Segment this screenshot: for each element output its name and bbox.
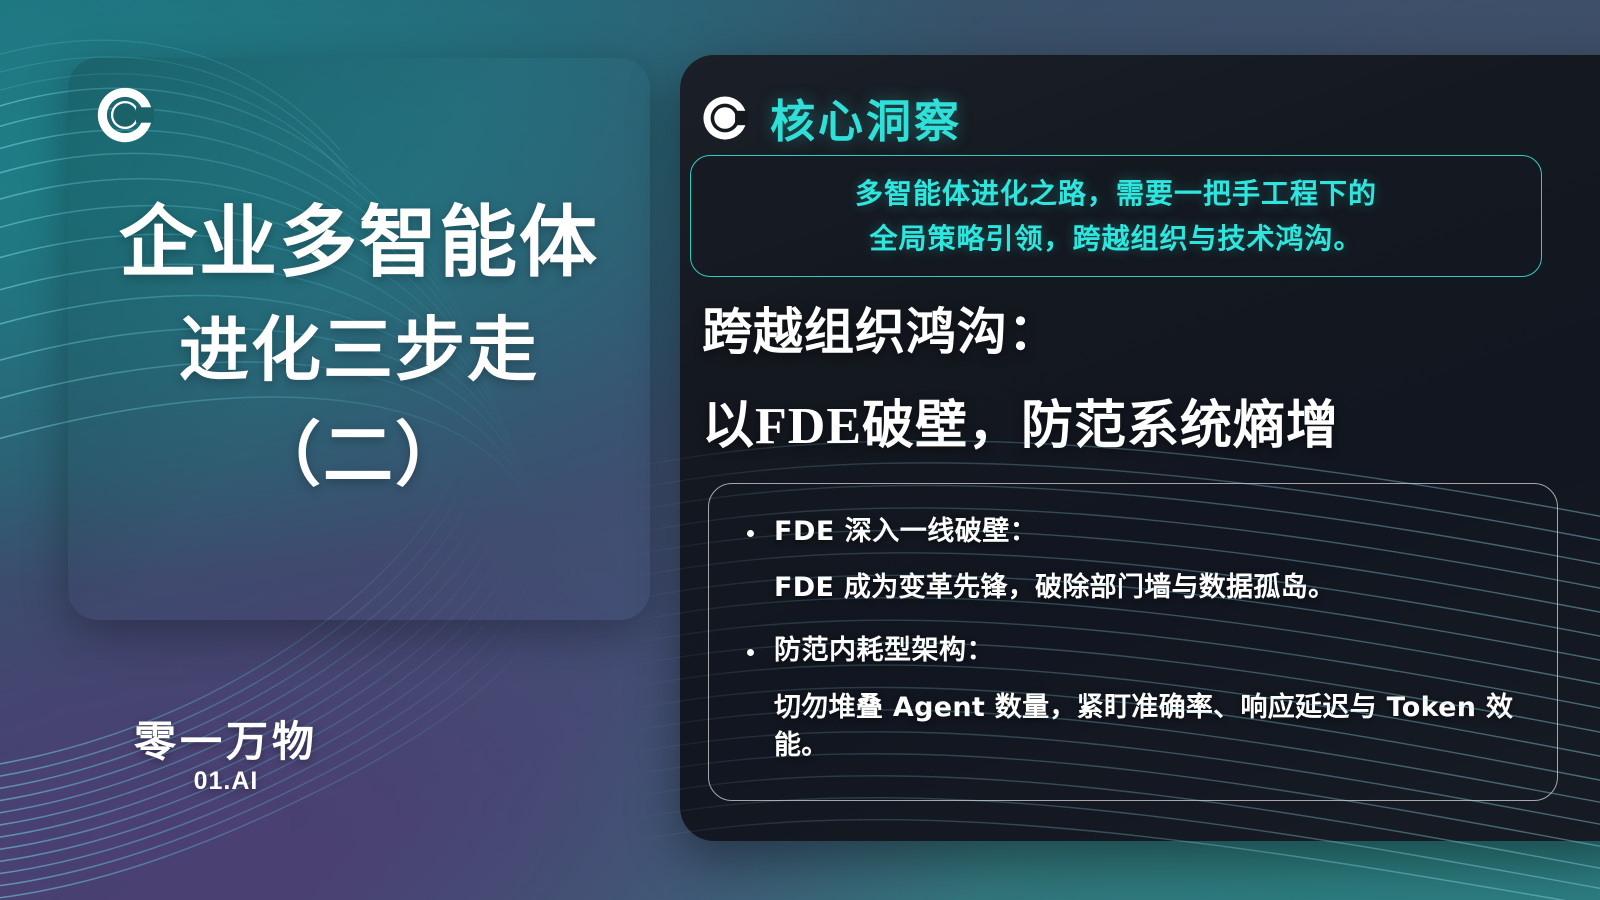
01ai-c-logo-icon xyxy=(96,86,154,144)
bullet-dot-icon xyxy=(747,649,754,656)
key-insight-quote-box: 多智能体进化之路，需要一把手工程下的 全局策略引领，跨越组织与技术鸿沟。 xyxy=(690,155,1542,277)
quote-line-1: 多智能体进化之路，需要一把手工程下的 xyxy=(855,171,1377,216)
panel-header-title: 核心洞察 xyxy=(770,85,962,150)
list-item: FDE 深入一线破壁： FDE 成为变革先锋，破除部门墙与数据孤岛。 xyxy=(743,514,1523,607)
list-item-desc: FDE 成为变革先锋，破除部门墙与数据孤岛。 xyxy=(774,569,1523,607)
list-item-title: 防范内耗型架构： xyxy=(774,633,1523,668)
title-card: 企业多智能体 进化三步走 （二） xyxy=(68,58,650,620)
list-item-body: FDE 深入一线破壁： FDE 成为变革先锋，破除部门墙与数据孤岛。 xyxy=(774,514,1523,607)
card-title: 企业多智能体 进化三步走 （二） xyxy=(68,188,650,509)
01ai-c-logo-icon xyxy=(702,95,748,141)
bullet-list-box: FDE 深入一线破壁： FDE 成为变革先锋，破除部门墙与数据孤岛。 防范内耗型… xyxy=(708,483,1558,801)
card-title-line-3: （二） xyxy=(68,404,650,509)
heading-line-1: 跨越组织鸿沟： xyxy=(702,307,1600,357)
list-item-body: 防范内耗型架构： 切勿堆叠 Agent 数量，紧盯准确率、响应延迟与 Token… xyxy=(774,633,1523,765)
slide-canvas: 企业多智能体 进化三步走 （二） 零一万物 01.AI 核心洞察 多智能体进化之… xyxy=(0,0,1600,900)
heading-line-2: 以FDE破壁，防范系统熵增 xyxy=(702,401,1600,453)
list-item-title: FDE 深入一线破壁： xyxy=(774,514,1523,549)
bullet-dot-icon xyxy=(747,530,754,537)
brand-name-en: 01.AI xyxy=(96,767,356,796)
brand-lockup: 零一万物 01.AI xyxy=(96,718,356,796)
brand-name-cn: 零一万物 xyxy=(96,718,356,765)
list-item: 防范内耗型架构： 切勿堆叠 Agent 数量，紧盯准确率、响应延迟与 Token… xyxy=(743,633,1523,765)
list-item-desc: 切勿堆叠 Agent 数量，紧盯准确率、响应延迟与 Token 效能。 xyxy=(774,689,1523,766)
panel-header: 核心洞察 xyxy=(702,85,962,150)
card-title-line-1: 企业多智能体 xyxy=(68,188,650,299)
card-title-line-2: 进化三步走 xyxy=(68,299,650,404)
quote-line-2: 全局策略引领，跨越组织与技术鸿沟。 xyxy=(855,216,1377,261)
section-headings: 跨越组织鸿沟： 以FDE破壁，防范系统熵增 xyxy=(702,307,1600,453)
insight-panel: 核心洞察 多智能体进化之路，需要一把手工程下的 全局策略引领，跨越组织与技术鸿沟… xyxy=(680,55,1600,841)
